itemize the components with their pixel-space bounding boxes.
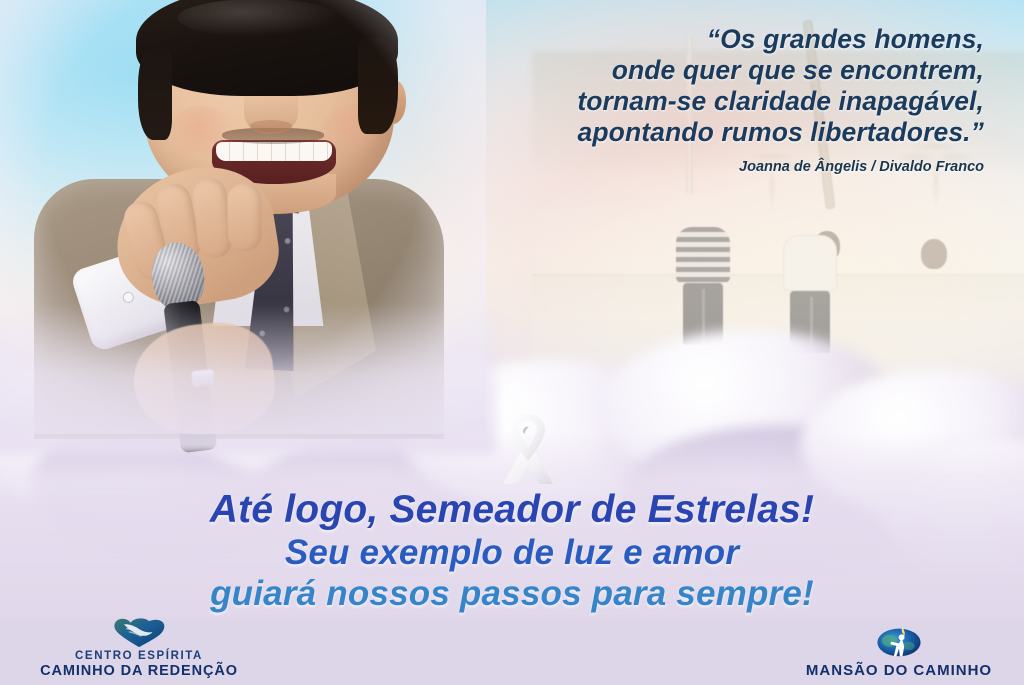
heart-with-hands-icon <box>14 614 264 648</box>
teeth <box>216 142 332 161</box>
white-ribbon-icon <box>495 408 561 488</box>
person-figure <box>783 237 837 353</box>
logo-left-line-2: CAMINHO DA REDENÇÃO <box>14 663 264 679</box>
person-legs <box>790 291 830 353</box>
logo-right-line-1: MANSÃO DO CAMINHO <box>784 662 1014 679</box>
quote-line-2: onde quer que se encontrem, <box>424 55 984 86</box>
quote-line-1: “Os grandes homens, <box>424 24 984 55</box>
logo-centro-espirita: CENTRO ESPÍRITA CAMINHO DA REDENÇÃO <box>14 614 264 679</box>
finger <box>227 183 262 252</box>
person-head <box>921 239 947 269</box>
headline-line-2: Seu exemplo de luz e amor <box>0 532 1024 573</box>
quote-attribution: Joanna de Ângelis / Divaldo Franco <box>424 159 984 175</box>
sideburn-left <box>138 48 172 140</box>
ground-shape <box>532 321 1024 424</box>
wall-shape <box>532 274 1024 322</box>
quote-block: “Os grandes homens, onde quer que se enc… <box>424 24 984 175</box>
headline-line-3: guiará nossos passos para sempre! <box>0 573 1024 614</box>
person-torso <box>676 227 730 283</box>
headline-line-1: Até logo, Semeador de Estrelas! <box>0 487 1024 532</box>
logo-mansao-do-caminho: MANSÃO DO CAMINHO <box>784 624 1014 679</box>
globe-with-figure-icon <box>784 624 1014 658</box>
person-legs <box>683 283 723 345</box>
person-torso <box>783 235 837 291</box>
quote-line-4: apontando rumos libertadores.” <box>424 117 984 148</box>
portrait-photo <box>6 0 476 424</box>
person-figure <box>676 229 730 345</box>
logo-left-line-1: CENTRO ESPÍRITA <box>14 650 264 662</box>
headline-block: Até logo, Semeador de Estrelas! Seu exem… <box>0 487 1024 614</box>
memorial-poster: “Os grandes homens, onde quer que se enc… <box>0 0 1024 685</box>
quote-line-3: tornam-se claridade inapagável, <box>424 86 984 117</box>
portrait-bottom-fade <box>0 304 496 454</box>
sideburn-right <box>358 38 398 134</box>
